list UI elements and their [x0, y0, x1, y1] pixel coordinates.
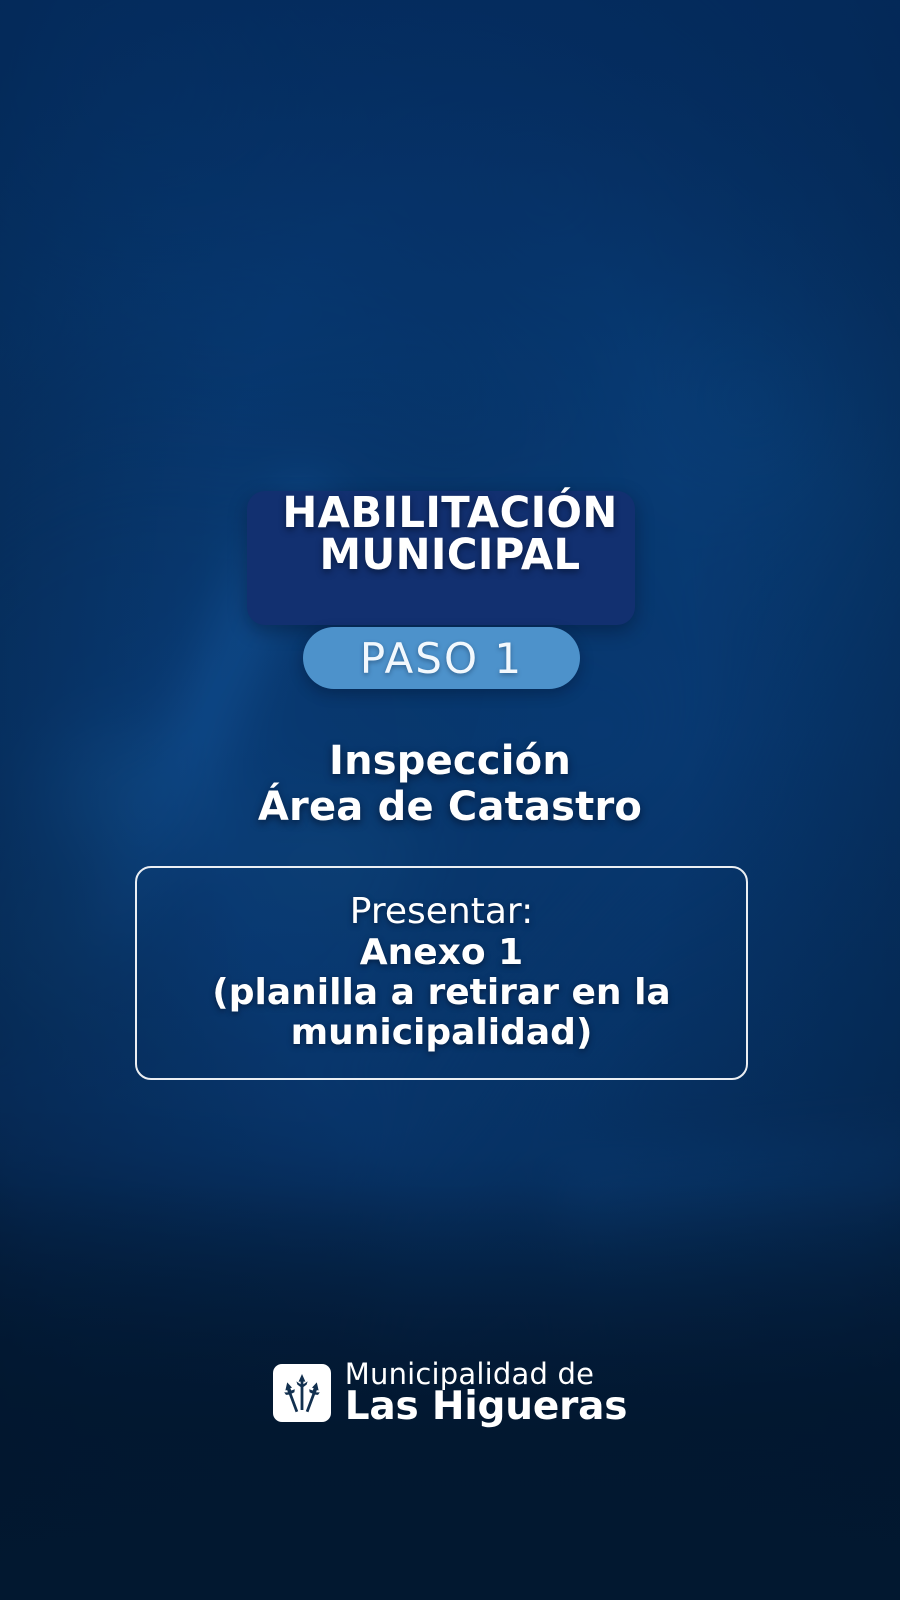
note-box-content: Presentar: Anexo 1 (planilla a retirar e… [135, 866, 748, 1080]
note-detail-line-2: municipalidad) [291, 1013, 593, 1053]
title-line-2: MUNICIPAL [14, 535, 887, 577]
poster-content: HABILITACIÓN MUNICIPAL PASO 1 Inspección… [0, 0, 900, 1600]
subtitle-line-1: Inspección [0, 738, 900, 784]
trident-trees-emblem-icon [273, 1364, 331, 1422]
note-item: Anexo 1 [360, 933, 523, 973]
logo-wordmark: Municipalidad de Las Higueras [345, 1360, 627, 1427]
note-detail-line-1: (planilla a retirar en la [212, 973, 670, 1013]
poster-title: HABILITACIÓN MUNICIPAL [14, 493, 887, 576]
municipality-logo: Municipalidad de Las Higueras [0, 1360, 900, 1427]
step-badge-label: PASO 1 [303, 627, 580, 689]
logo-line-bottom: Las Higueras [345, 1388, 627, 1426]
poster-root: HABILITACIÓN MUNICIPAL PASO 1 Inspección… [0, 0, 900, 1600]
title-line-1: HABILITACIÓN [14, 493, 887, 535]
note-lead: Presentar: [350, 892, 533, 932]
poster-subtitle: Inspección Área de Catastro [0, 738, 900, 830]
subtitle-line-2: Área de Catastro [0, 784, 900, 830]
